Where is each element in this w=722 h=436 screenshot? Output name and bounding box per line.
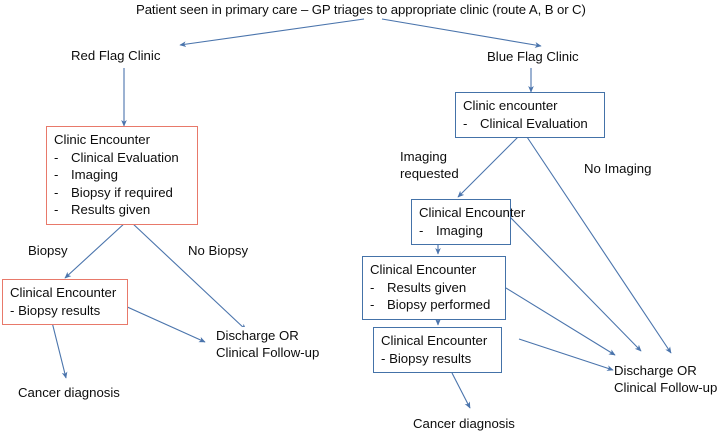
node-item: -Clinical Evaluation [463, 115, 598, 133]
label-red-flag-clinic: Red Flag Clinic [71, 47, 160, 64]
node-item: - Biopsy results [10, 302, 121, 320]
node-blue-imaging[interactable]: Clinical Encounter -Imaging [411, 199, 511, 245]
edge-title-to-blue-flag [382, 19, 541, 46]
edge-label-no-imaging: No Imaging [584, 160, 651, 177]
node-heading: Clinical Encounter [419, 204, 504, 222]
edge-label-line-1: Imaging [400, 148, 459, 165]
node-item: -Imaging [54, 166, 191, 184]
node-item-text: Clinical Evaluation [71, 150, 179, 165]
node-item-text: Imaging [71, 167, 118, 182]
node-item: -Biopsy if required [54, 184, 191, 202]
bullet-dash: - [10, 303, 14, 318]
page-title: Patient seen in primary care – GP triage… [136, 2, 616, 17]
edge-blue-encounter-to-imaging [458, 137, 518, 197]
outcome-line-1: Discharge OR [216, 327, 319, 344]
outcome-right-cancer-diagnosis: Cancer diagnosis [413, 415, 515, 432]
node-item: -Results given [54, 201, 191, 219]
edge-label-line-2: requested [400, 165, 459, 182]
edge-label-imaging-requested: Imaging requested [400, 148, 459, 182]
bullet-dash: - [54, 184, 71, 202]
bullet-dash: - [54, 201, 71, 219]
node-item: - Biopsy results [381, 350, 495, 368]
node-item-text: Biopsy performed [387, 297, 490, 312]
node-item: -Imaging [419, 222, 504, 240]
node-heading: Clinical Encounter [10, 284, 121, 302]
bullet-dash: - [463, 115, 480, 133]
node-item-text: Imaging [436, 223, 483, 238]
label-blue-flag-clinic: Blue Flag Clinic [487, 48, 579, 65]
node-blue-biopsy-results[interactable]: Clinical Encounter - Biopsy results [373, 327, 502, 373]
edge-label-biopsy: Biopsy [28, 242, 68, 259]
edge-red-encounter-to-discharge [131, 222, 246, 330]
node-heading: Clinic Encounter [54, 131, 191, 149]
node-item-text: Clinical Evaluation [480, 116, 588, 131]
bullet-dash: - [381, 351, 385, 366]
node-item: -Clinical Evaluation [54, 149, 191, 167]
edge-title-to-red-flag [180, 19, 364, 45]
bullet-dash: - [370, 279, 387, 297]
outcome-left-discharge: Discharge OR Clinical Follow-up [216, 327, 319, 361]
edge-results-biopsy-to-discharge [506, 288, 615, 355]
outcome-line-2: Clinical Follow-up [216, 344, 319, 361]
node-blue-results-biopsy[interactable]: Clinical Encounter -Results given -Biops… [362, 256, 506, 320]
edge-red-biopsy-results-to-discharge [125, 306, 205, 342]
node-item-text: Biopsy results [18, 303, 100, 318]
bullet-dash: - [54, 149, 71, 167]
node-red-clinic-encounter[interactable]: Clinic Encounter -Clinical Evaluation -I… [46, 126, 198, 225]
edge-imaging-to-discharge [510, 217, 641, 351]
node-item-text: Biopsy if required [71, 185, 173, 200]
node-heading: Clinical Encounter [381, 332, 495, 350]
edge-red-biopsy-results-to-cancer [51, 318, 66, 378]
node-item: -Biopsy performed [370, 296, 499, 314]
outcome-left-cancer-diagnosis: Cancer diagnosis [18, 384, 120, 401]
edge-blue-biopsy-results-to-cancer [452, 373, 470, 408]
edge-label-no-biopsy: No Biopsy [188, 242, 248, 259]
node-item-text: Results given [387, 280, 466, 295]
node-item: -Results given [370, 279, 499, 297]
bullet-dash: - [54, 166, 71, 184]
bullet-dash: - [419, 222, 436, 240]
outcome-line-1: Discharge OR [614, 362, 717, 379]
edge-red-encounter-to-biopsy-results [65, 222, 126, 278]
node-heading: Clinical Encounter [370, 261, 499, 279]
node-item-text: Results given [71, 202, 150, 217]
bullet-dash: - [370, 296, 387, 314]
node-blue-clinic-encounter[interactable]: Clinic encounter -Clinical Evaluation [455, 92, 605, 138]
flowchart-canvas: Patient seen in primary care – GP triage… [0, 0, 722, 436]
node-item-text: Biopsy results [389, 351, 471, 366]
outcome-line-2: Clinical Follow-up [614, 379, 717, 396]
outcome-right-discharge: Discharge OR Clinical Follow-up [614, 362, 717, 396]
edge-blue-biopsy-results-to-discharge [519, 339, 613, 370]
node-red-biopsy-results[interactable]: Clinical Encounter - Biopsy results [2, 279, 128, 325]
node-heading: Clinic encounter [463, 97, 598, 115]
